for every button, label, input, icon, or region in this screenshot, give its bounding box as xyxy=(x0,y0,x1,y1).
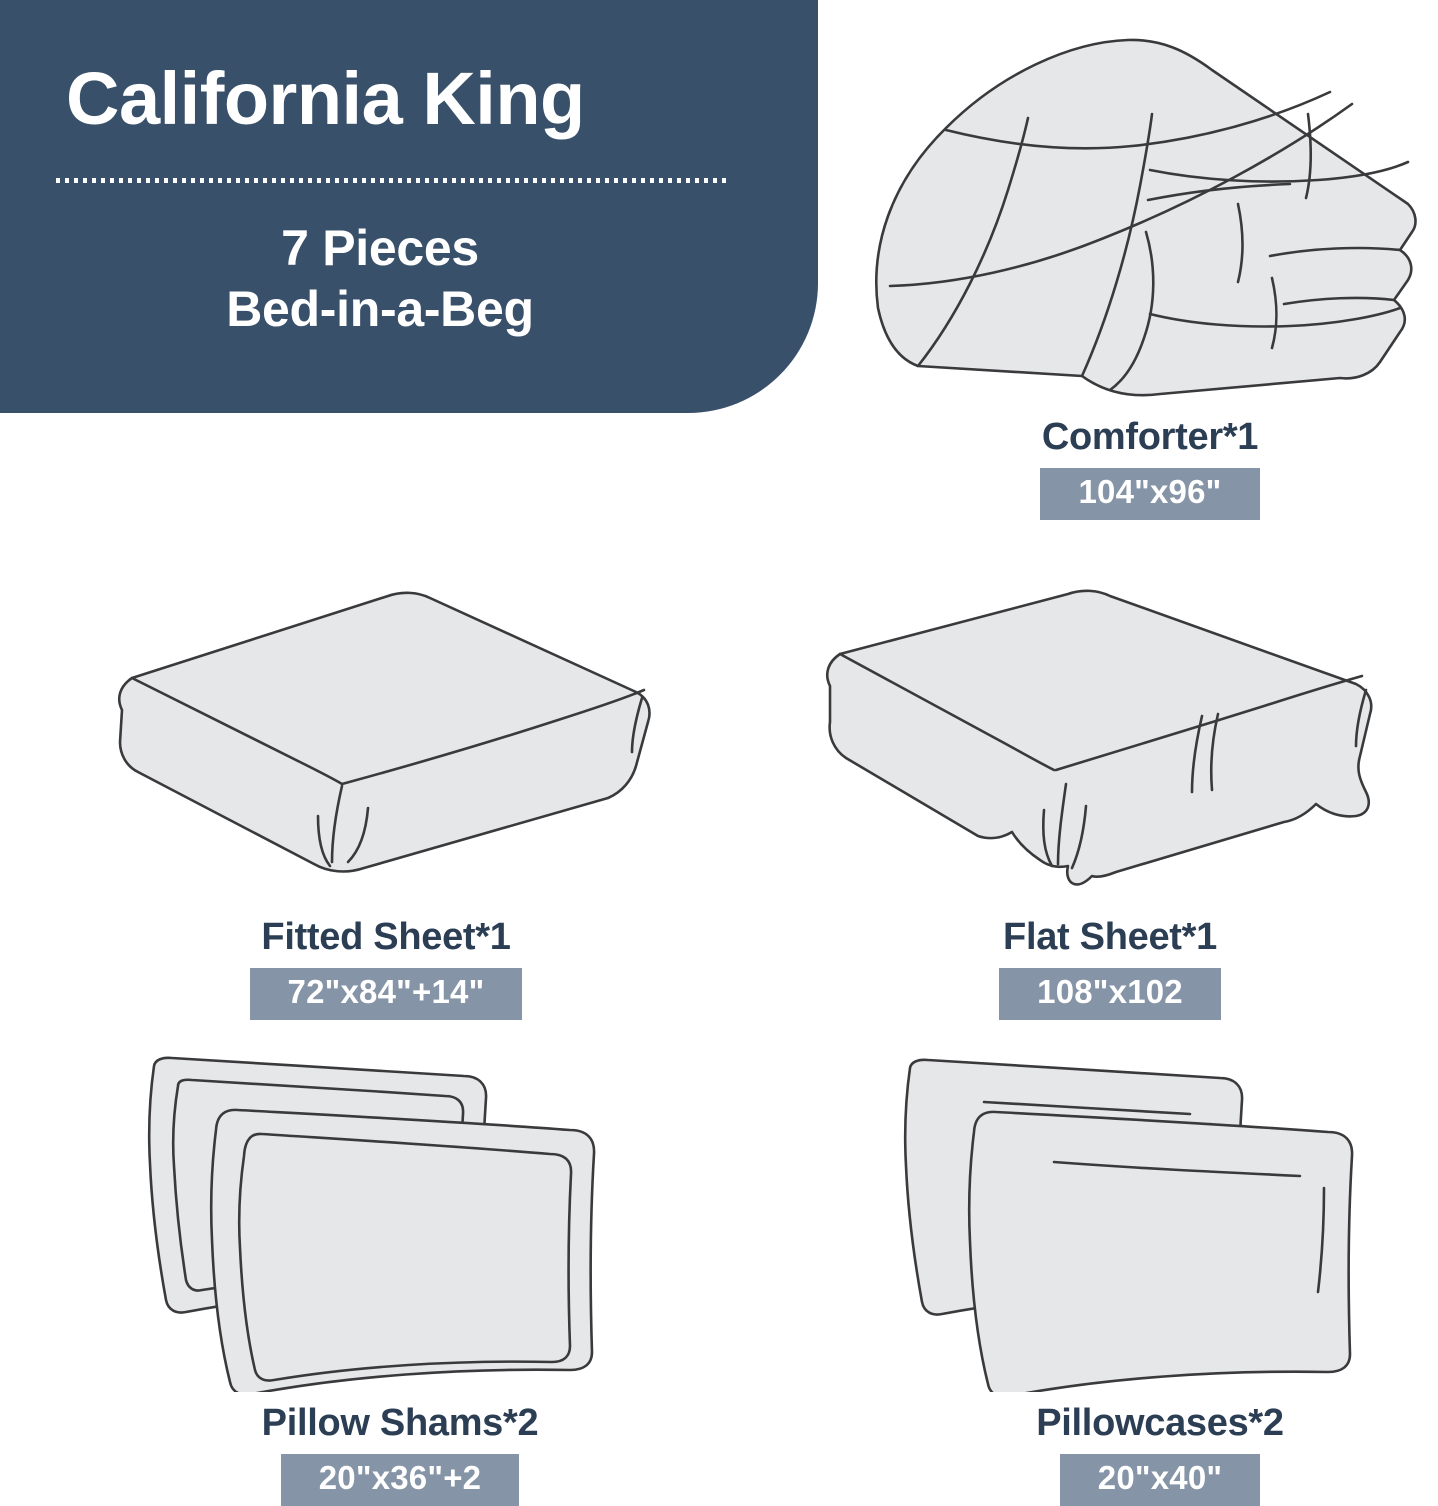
status-badge-fitted-sheet-size: 72"x84"+14" xyxy=(250,968,523,1020)
header-subtitle-line-2: Bed-in-a-Beg xyxy=(0,279,760,340)
item-badge-wrap-flat-sheet: 108"x102 xyxy=(800,968,1420,1020)
header-subtitle: 7 Pieces Bed-in-a-Beg xyxy=(0,218,760,340)
item-badge-wrap-comforter: 104"x96" xyxy=(860,468,1438,520)
item-label-fitted-sheet: Fitted Sheet*1 xyxy=(96,918,676,956)
pillowcases-icon xyxy=(880,1052,1420,1392)
item-label-pillowcases: Pillowcases*2 xyxy=(880,1404,1438,1442)
item-badge-wrap-fitted-sheet: 72"x84"+14" xyxy=(96,968,676,1020)
status-badge-pillowcases-size: 20"x40" xyxy=(1060,1454,1260,1506)
status-badge-comforter-size: 104"x96" xyxy=(1040,468,1259,520)
item-label-pillow-shams: Pillow Shams*2 xyxy=(120,1404,680,1442)
item-label-comforter: Comforter*1 xyxy=(860,418,1438,456)
item-badge-wrap-pillowcases: 20"x40" xyxy=(880,1454,1438,1506)
flat-sheet-icon xyxy=(800,580,1400,900)
page-title: California King xyxy=(66,62,585,136)
header-banner: California King 7 Pieces Bed-in-a-Beg xyxy=(0,0,818,413)
status-badge-flat-sheet-size: 108"x102 xyxy=(999,968,1221,1020)
folded-comforter-icon xyxy=(860,18,1420,408)
item-badge-wrap-pillow-shams: 20"x36"+2 xyxy=(120,1454,680,1506)
header-dotted-divider xyxy=(56,178,728,183)
status-badge-pillow-shams-size: 20"x36"+2 xyxy=(281,1454,519,1506)
header-subtitle-line-1: 7 Pieces xyxy=(281,220,479,276)
fitted-sheet-icon xyxy=(96,580,656,900)
pillow-shams-icon xyxy=(120,1052,660,1392)
item-label-flat-sheet: Flat Sheet*1 xyxy=(800,918,1420,956)
